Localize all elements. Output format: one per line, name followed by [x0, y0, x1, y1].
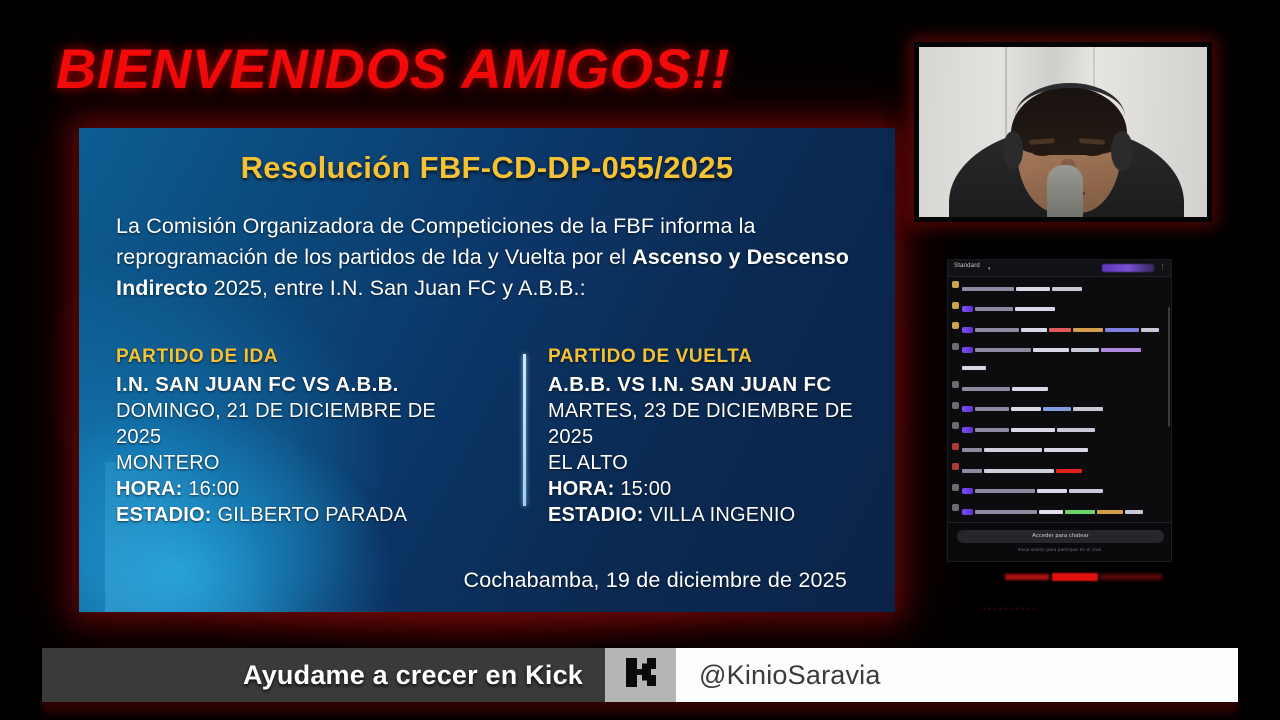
chat-avatar-icon: [952, 422, 959, 429]
chat-text-segment: [1011, 428, 1055, 432]
chat-text-segment: [975, 348, 1031, 352]
chat-message-text: [962, 301, 1167, 319]
banner-call-to-action: Ayudame a crecer en Kick: [243, 660, 605, 691]
chat-text-segment: [1056, 469, 1082, 473]
page-title: BIENVENIDOS AMIGOS!!: [56, 37, 816, 101]
chat-text-segment: [1065, 510, 1095, 514]
chat-text-segment: [975, 510, 1037, 514]
streamer-handle: @KinioSaravia: [676, 660, 881, 691]
chat-scrollbar[interactable]: [1168, 307, 1170, 427]
chat-message-text: [962, 442, 1167, 460]
chat-header: Standard ▾ ⋮: [948, 260, 1171, 277]
chat-text-segment: [1073, 407, 1103, 411]
chat-avatar-icon: [952, 443, 959, 450]
chat-text-segment: [962, 448, 982, 452]
chat-text-segment: [962, 366, 986, 370]
chat-message-text: [962, 421, 1167, 439]
headphone-earcup-left: [1003, 131, 1023, 169]
match-fixture: A.B.B. VS I.N. SAN JUAN FC: [548, 371, 878, 398]
chat-footer-note: Inicia sesión para participar en el chat: [948, 547, 1171, 552]
chat-message: [952, 301, 1167, 319]
match-fixture: I.N. SAN JUAN FC VS A.B.B.: [116, 371, 446, 398]
chat-text-segment: [962, 287, 1014, 291]
chat-channel-label[interactable]: Standard: [954, 263, 980, 269]
headphone-earcup-right: [1111, 131, 1133, 171]
chat-promo-badge: [1102, 264, 1154, 272]
webcam-video: [919, 47, 1207, 217]
chat-message: [952, 421, 1167, 439]
bottom-banner: Ayudame a crecer en Kick @KinioSaravia: [42, 648, 1238, 702]
chat-message: [952, 380, 1167, 398]
chat-user-badge: [962, 406, 973, 412]
chat-text-segment: [1011, 407, 1041, 411]
chat-message-text: [962, 280, 1167, 298]
match-time-label: HORA:: [116, 478, 183, 500]
eye-left: [1033, 150, 1052, 156]
chat-user-badge: [962, 488, 973, 494]
match-time: HORA: 16:00: [116, 476, 446, 502]
chat-login-button[interactable]: Acceder para chatear: [957, 530, 1164, 543]
chat-text-segment: [1141, 328, 1159, 332]
chat-avatar-icon: [952, 302, 959, 309]
chat-text-segment: [975, 489, 1035, 493]
chat-text-segment: [1044, 448, 1088, 452]
chat-text-segment: [1016, 287, 1050, 291]
chat-avatar-icon: [952, 484, 959, 491]
match-block-ida: PARTIDO DE IDA I.N. SAN JUAN FC VS A.B.B…: [116, 346, 446, 528]
chat-text-segment: [1125, 510, 1143, 514]
match-stadium-label: ESTADIO:: [548, 504, 644, 526]
stream-overlay: BIENVENIDOS AMIGOS!! Resolución FBF-CD-D…: [0, 0, 1280, 720]
chat-message-text: [962, 401, 1167, 419]
chat-message: [952, 503, 1167, 521]
chat-login-label: Acceder para chatear: [957, 533, 1164, 539]
chat-message: [952, 321, 1167, 339]
match-heading: PARTIDO DE VUELTA: [548, 346, 878, 368]
match-time-label: HORA:: [548, 478, 615, 500]
body-text-part2: 2025, entre I.N. San Juan FC y A.B.B.:: [208, 276, 586, 300]
chat-avatar-icon: [952, 381, 959, 388]
chat-user-badge: [962, 427, 973, 433]
chat-message-list[interactable]: [948, 277, 1171, 522]
chat-text-segment: [1021, 328, 1047, 332]
match-stadium: ESTADIO: GILBERTO PARADA: [116, 502, 446, 528]
chat-text-segment: [984, 469, 1054, 473]
chat-message-text: [962, 462, 1167, 480]
background-glow-artifacts: ••••••••••: [947, 566, 1172, 624]
match-heading: PARTIDO DE IDA: [116, 346, 446, 368]
chat-avatar-icon: [952, 402, 959, 409]
match-block-vuelta: PARTIDO DE VUELTA A.B.B. VS I.N. SAN JUA…: [548, 346, 878, 528]
glow-bar-2: [1052, 573, 1098, 581]
resolution-body: La Comisión Organizadora de Competicione…: [116, 211, 864, 304]
chat-text-segment: [984, 448, 1042, 452]
chat-text-segment: [1037, 489, 1067, 493]
match-stadium-value: VILLA INGENIO: [649, 504, 795, 526]
kebab-menu-icon[interactable]: ⋮: [1159, 263, 1166, 272]
match-time: HORA: 15:00: [548, 476, 878, 502]
kick-logo-icon: [621, 655, 661, 695]
chat-user-badge: [962, 509, 973, 515]
chat-text-segment: [962, 469, 982, 473]
chat-message-text: [962, 321, 1167, 339]
chat-text-segment: [975, 328, 1019, 332]
banner-left-section: Ayudame a crecer en Kick: [42, 648, 605, 702]
chat-footer: Acceder para chatear Inicia sesión para …: [948, 522, 1171, 562]
chat-message-text: [962, 342, 1167, 378]
chat-text-segment: [1105, 328, 1139, 332]
chat-text-segment: [1012, 387, 1048, 391]
matches-container: PARTIDO DE IDA I.N. SAN JUAN FC VS A.B.B…: [116, 346, 864, 506]
chat-message: [952, 342, 1167, 378]
chat-text-segment: [962, 387, 1010, 391]
column-divider: [523, 354, 526, 506]
microphone: [1047, 165, 1083, 217]
chat-avatar-icon: [952, 281, 959, 288]
chat-user-badge: [962, 347, 973, 353]
chat-text-segment: [1043, 407, 1071, 411]
chat-message-text: [962, 483, 1167, 501]
chat-text-segment: [975, 407, 1009, 411]
chat-text-segment: [1015, 307, 1055, 311]
city-date: Cochabamba, 19 de diciembre de 2025: [463, 568, 847, 593]
glow-text-row: ••••••••••: [983, 606, 1133, 614]
chat-text-segment: [975, 307, 1013, 311]
banner-right-section: @KinioSaravia: [676, 648, 1238, 702]
chat-text-segment: [1097, 510, 1123, 514]
banner-underglow: [42, 700, 1238, 720]
match-time-value: 15:00: [620, 478, 671, 500]
glow-bar-3: [1100, 574, 1162, 580]
match-stadium-value: GILBERTO PARADA: [217, 504, 407, 526]
chat-message-text: [962, 380, 1167, 398]
chat-text-segment: [1073, 328, 1103, 332]
chat-text-segment: [1052, 287, 1082, 291]
chat-message: [952, 442, 1167, 460]
chat-text-segment: [1057, 428, 1095, 432]
match-city: MONTERO: [116, 450, 446, 476]
chat-panel[interactable]: Standard ▾ ⋮ Acceder para chatear Inicia…: [947, 259, 1172, 562]
resolution-title: Resolución FBF-CD-DP-055/2025: [79, 150, 895, 186]
chat-avatar-icon: [952, 322, 959, 329]
glow-bar-1: [1005, 574, 1049, 580]
chat-text-segment: [975, 428, 1009, 432]
chat-avatar-icon: [952, 504, 959, 511]
chat-text-segment: [1071, 348, 1099, 352]
chat-message: [952, 280, 1167, 298]
resolution-card: Resolución FBF-CD-DP-055/2025 La Comisió…: [79, 128, 895, 612]
match-time-value: 16:00: [188, 478, 239, 500]
chat-avatar-icon: [952, 463, 959, 470]
match-city: EL ALTO: [548, 450, 878, 476]
chat-message: [952, 401, 1167, 419]
eye-right: [1083, 150, 1102, 156]
chat-user-badge: [962, 327, 973, 333]
chat-message: [952, 483, 1167, 501]
chat-text-segment: [1101, 348, 1141, 352]
match-stadium: ESTADIO: VILLA INGENIO: [548, 502, 878, 528]
chat-message: [952, 462, 1167, 480]
chat-text-segment: [1069, 489, 1103, 493]
kick-logo: [605, 648, 676, 702]
webcam-feed: [914, 42, 1212, 222]
chat-avatar-icon: [952, 343, 959, 350]
chat-text-segment: [1039, 510, 1063, 514]
chevron-down-icon[interactable]: ▾: [988, 266, 991, 272]
chat-text-segment: [1033, 348, 1069, 352]
match-stadium-label: ESTADIO:: [116, 504, 212, 526]
chat-user-badge: [962, 306, 973, 312]
match-date: MARTES, 23 DE DICIEMBRE DE 2025: [548, 398, 878, 450]
chat-text-segment: [1049, 328, 1071, 332]
match-date: DOMINGO, 21 DE DICIEMBRE DE 2025: [116, 398, 446, 450]
chat-message-text: [962, 503, 1167, 521]
